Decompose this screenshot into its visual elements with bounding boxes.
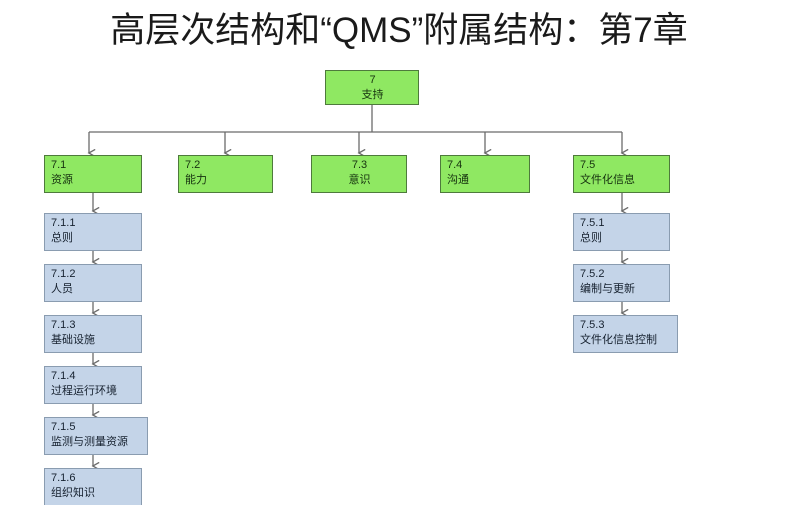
node-7-2[interactable]: 7.2 能力 bbox=[178, 155, 273, 193]
page-title: 高层次结构和“QMS”附属结构：第7章 bbox=[0, 8, 798, 54]
node-7-5-2-number: 7.5.2 bbox=[580, 267, 664, 282]
node-7-5-number: 7.5 bbox=[580, 158, 664, 173]
node-7-1-5-label: 监测与测量资源 bbox=[51, 435, 142, 450]
node-7-4-label: 沟通 bbox=[447, 173, 524, 188]
diagram-canvas: 高层次结构和“QMS”附属结构：第7章 bbox=[0, 0, 798, 505]
node-7-label: 支持 bbox=[332, 88, 413, 103]
node-7-1-2[interactable]: 7.1.2 人员 bbox=[44, 264, 142, 302]
node-7-1-6-label: 组织知识 bbox=[51, 486, 136, 501]
node-7-1[interactable]: 7.1 资源 bbox=[44, 155, 142, 193]
node-7-1-6[interactable]: 7.1.6 组织知识 bbox=[44, 468, 142, 505]
node-7-5-1-label: 总则 bbox=[580, 231, 664, 246]
node-7-1-4-label: 过程运行环境 bbox=[51, 384, 136, 399]
node-7-1-label: 资源 bbox=[51, 173, 136, 188]
node-7-5-3-number: 7.5.3 bbox=[580, 318, 672, 333]
node-7-1-3[interactable]: 7.1.3 基础设施 bbox=[44, 315, 142, 353]
node-7-5-3[interactable]: 7.5.3 文件化信息控制 bbox=[573, 315, 678, 353]
node-7-5[interactable]: 7.5 文件化信息 bbox=[573, 155, 670, 193]
node-7-1-3-label: 基础设施 bbox=[51, 333, 136, 348]
node-7-1-2-label: 人员 bbox=[51, 282, 136, 297]
node-7-5-1[interactable]: 7.5.1 总则 bbox=[573, 213, 670, 251]
node-7-5-2[interactable]: 7.5.2 编制与更新 bbox=[573, 264, 670, 302]
node-7-1-1-number: 7.1.1 bbox=[51, 216, 136, 231]
node-7-4[interactable]: 7.4 沟通 bbox=[440, 155, 530, 193]
node-7-5-3-label: 文件化信息控制 bbox=[580, 333, 672, 348]
node-7-4-number: 7.4 bbox=[447, 158, 524, 173]
node-7-5-label: 文件化信息 bbox=[580, 173, 664, 188]
node-7-2-label: 能力 bbox=[185, 173, 267, 188]
node-7-1-4[interactable]: 7.1.4 过程运行环境 bbox=[44, 366, 142, 404]
node-7-1-1[interactable]: 7.1.1 总则 bbox=[44, 213, 142, 251]
node-7-1-5[interactable]: 7.1.5 监测与测量资源 bbox=[44, 417, 148, 455]
node-7-number: 7 bbox=[332, 73, 413, 88]
node-7-3[interactable]: 7.3 意识 bbox=[311, 155, 407, 193]
node-7-3-label: 意识 bbox=[318, 173, 401, 188]
node-7-1-1-label: 总则 bbox=[51, 231, 136, 246]
node-7-2-number: 7.2 bbox=[185, 158, 267, 173]
node-7-5-1-number: 7.5.1 bbox=[580, 216, 664, 231]
node-7-1-number: 7.1 bbox=[51, 158, 136, 173]
node-7-1-6-number: 7.1.6 bbox=[51, 471, 136, 486]
node-7-1-2-number: 7.1.2 bbox=[51, 267, 136, 282]
node-7-3-number: 7.3 bbox=[318, 158, 401, 173]
node-7-1-5-number: 7.1.5 bbox=[51, 420, 142, 435]
node-7-1-4-number: 7.1.4 bbox=[51, 369, 136, 384]
node-7-5-2-label: 编制与更新 bbox=[580, 282, 664, 297]
node-7-1-3-number: 7.1.3 bbox=[51, 318, 136, 333]
node-7[interactable]: 7 支持 bbox=[325, 70, 419, 105]
